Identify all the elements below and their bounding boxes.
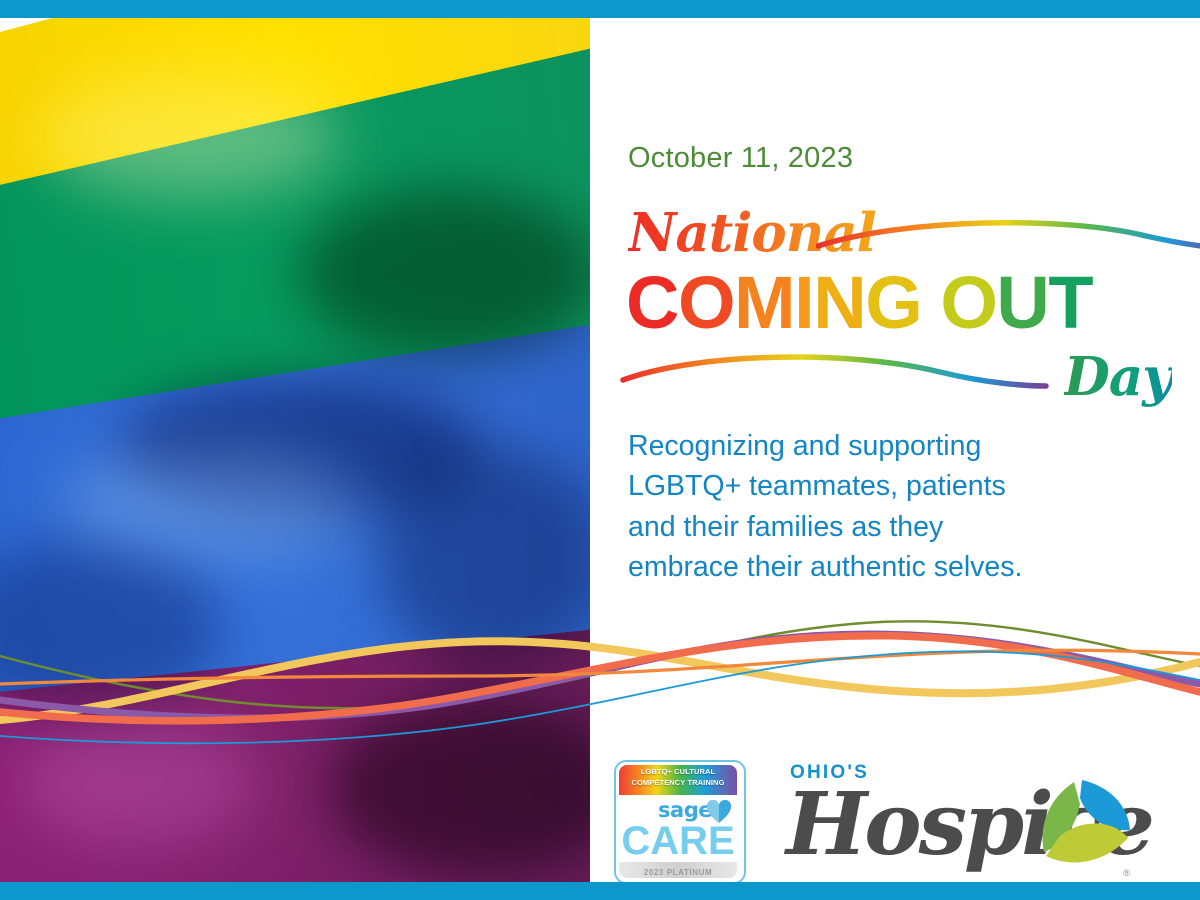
bottom-brand-bar	[0, 882, 1200, 900]
fabric-fold-highlight	[40, 78, 340, 198]
headline-letter-1: O	[678, 260, 734, 345]
body-copy: Recognizing and supportingLGBTQ+ teammat…	[628, 426, 1168, 588]
sage-badge-caption-line1: LGBTQ+ CULTURAL	[619, 766, 737, 777]
headline-letter-6	[921, 260, 940, 345]
headline-letter-9: T	[1048, 260, 1092, 345]
headline-letter-0: C	[626, 260, 678, 345]
fabric-fold-highlight	[20, 718, 260, 848]
body-copy-line-2: LGBTQ+ teammates, patients	[628, 466, 1168, 506]
headline-day: Day	[1064, 346, 1172, 408]
leaf-icon	[1030, 776, 1134, 876]
headline-letter-5: G	[865, 260, 921, 345]
rainbow-swoosh-bottom-icon	[620, 348, 1050, 394]
content-panel: October 11, 2023 National COMING OUT	[590, 18, 1200, 882]
sage-badge-caption: LGBTQ+ CULTURAL COMPETENCY TRAINING	[619, 766, 737, 788]
top-brand-bar	[0, 0, 1200, 18]
sage-badge-year-level: 2023 PLATINUM	[619, 868, 737, 877]
body-copy-line-4: embrace their authentic selves.	[628, 547, 1168, 587]
headline-letter-7: O	[940, 260, 996, 345]
body-copy-line-1: Recognizing and supporting	[628, 426, 1168, 466]
sage-care-badge: LGBTQ+ CULTURAL COMPETENCY TRAINING sage…	[614, 760, 746, 884]
pride-flag-image	[0, 18, 590, 882]
headline-letter-4: N	[813, 260, 865, 345]
fabric-fold-shadow	[300, 188, 590, 358]
poster-canvas: October 11, 2023 National COMING OUT	[0, 0, 1200, 900]
leaf-registered-mark: ®	[1123, 868, 1130, 878]
headline-letter-3: I	[794, 260, 813, 345]
headline-lockup: National COMING OUT	[622, 188, 1182, 408]
flag-photo-bands	[0, 18, 590, 882]
rainbow-swoosh-top-icon	[816, 216, 1200, 262]
logo-row: LGBTQ+ CULTURAL COMPETENCY TRAINING sage…	[614, 754, 1194, 882]
sage-badge-caption-line2: COMPETENCY TRAINING	[619, 777, 737, 788]
event-date: October 11, 2023	[628, 142, 853, 175]
fabric-fold-highlight	[60, 448, 360, 558]
headline-letter-2: M	[734, 260, 794, 345]
sage-care-wordmark: CARE	[619, 820, 737, 862]
headline-coming-out: COMING OUT	[626, 260, 1092, 345]
body-copy-line-3: and their families as they	[628, 507, 1168, 547]
ohios-hospice-logo: OHIO'S Hospice ® ®	[786, 756, 1136, 880]
headline-letter-8: U	[996, 260, 1048, 345]
